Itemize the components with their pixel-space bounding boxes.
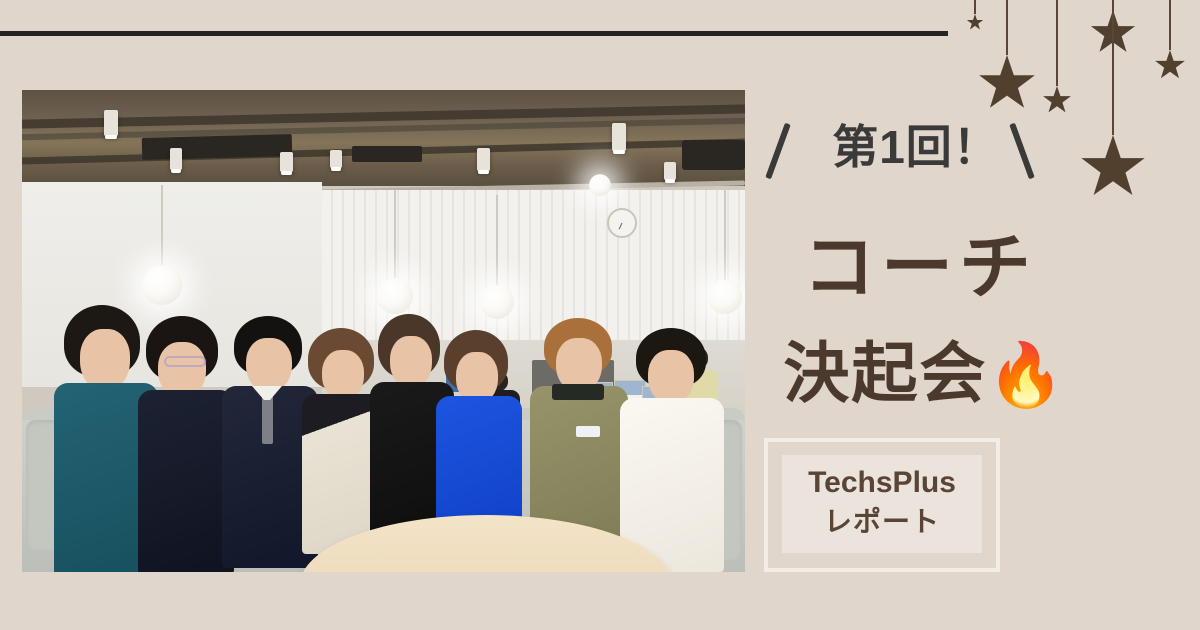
pendant-lamp [372,190,418,330]
episode-label: 第1回！ [811,116,1021,178]
title-line-2-text: 決起会 [783,336,987,410]
ac-vent [142,134,293,160]
wall-clock [607,208,637,238]
spot-light [280,152,293,172]
poster-canvas: 第1回！ コーチ 決起会🔥 TechsPlus レポート [0,0,1200,630]
report-label-line-1: TechsPlus [782,468,982,498]
ac-vent [352,146,422,162]
photo-ceiling [22,90,745,186]
name-badge [576,426,600,437]
star-small-3-icon [1155,0,1186,81]
spot-light [612,123,626,151]
title-line-1: コーチ [770,232,1070,304]
jacket-collar [552,384,604,400]
report-label-line-2: レポート [782,508,982,536]
star-small-2-icon [1043,0,1072,115]
top-divider-rule [0,31,948,36]
title-line-2: 決起会🔥 [760,340,1090,407]
person-2 [138,316,234,572]
spot-light [664,162,676,180]
spot-light [170,148,182,170]
slash-left-icon [765,123,790,180]
pendant-lamp [474,195,520,335]
spot-light [330,150,342,168]
fire-emoji-icon: 🔥 [987,341,1066,410]
ceiling-panel [682,140,745,170]
person-8 [620,328,724,572]
star-large-3-icon [1080,0,1146,201]
spot-light [477,148,490,171]
spot-light [104,110,118,136]
pendant-lamp [137,185,187,325]
pendant-lamp [702,190,745,330]
group-photo [22,90,745,572]
glasses [164,356,206,367]
star-large-1-icon [978,0,1036,113]
episode-headline: 第1回！ [775,118,1055,184]
